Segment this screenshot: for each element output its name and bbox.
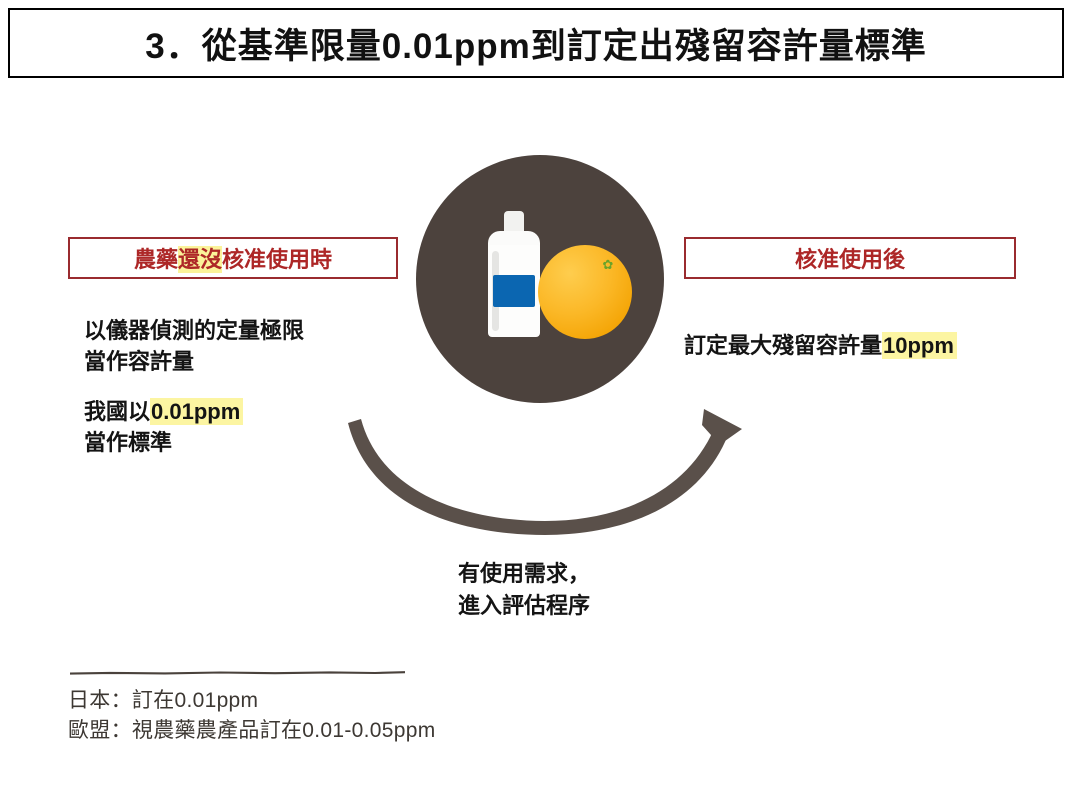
left-para1-line2: 當作容許量: [84, 346, 304, 377]
arrow-caption: 有使用需求， 進入評估程序: [458, 558, 590, 622]
bottle-label: [493, 275, 535, 307]
footnote-line-japan: 日本：訂在0.01ppm: [68, 686, 436, 716]
left-phase-label-box: 農藥還沒核准使用時: [68, 237, 398, 279]
arrow-caption-line2: 進入評估程序: [458, 590, 590, 622]
page-title: 3．從基準限量0.01ppm到訂定出殘留容許量標準: [145, 18, 926, 69]
left-para2-line2: 當作標準: [84, 427, 243, 458]
right-paragraph-mrl: 訂定最大殘留容許量10ppm: [684, 330, 957, 361]
footnote-divider-stroke: [70, 672, 405, 673]
left-label-highlight: 還沒: [178, 246, 222, 273]
left-phase-label-text: 農藥還沒核准使用時: [134, 242, 332, 274]
orange-star-icon: ✿: [602, 259, 614, 271]
left-para2-prefix: 我國以: [84, 399, 150, 424]
right-para-line1: 訂定最大殘留容許量10ppm: [684, 330, 957, 361]
arrow-curve: [348, 419, 728, 535]
right-phase-label-box: 核准使用後: [684, 237, 1016, 279]
right-para-highlight-value: 10ppm: [882, 332, 957, 359]
left-paragraph-detection-limit: 以儀器偵測的定量極限 當作容許量: [84, 315, 304, 377]
left-paragraph-national-standard: 我國以0.01ppm 當作標準: [84, 396, 243, 458]
right-phase-label-text: 核准使用後: [795, 242, 905, 274]
footnote-line-eu: 歐盟：視農藥農產品訂在0.01-0.05ppm: [68, 716, 436, 746]
curved-process-arrow: [330, 405, 760, 550]
left-para1-line1: 以儀器偵測的定量極限: [84, 315, 304, 346]
footnote-divider: [70, 671, 405, 675]
left-para2-highlight-value: 0.01ppm: [150, 398, 243, 425]
left-para2-line1: 我國以0.01ppm: [84, 396, 243, 427]
arrow-caption-line1: 有使用需求，: [458, 558, 590, 590]
right-para-prefix: 訂定最大殘留容許量: [684, 333, 882, 358]
central-illustration: ✿: [416, 155, 664, 403]
footnote-block: 日本：訂在0.01ppm 歐盟：視農藥農產品訂在0.01-0.05ppm: [68, 686, 436, 746]
left-label-suffix: 核准使用時: [222, 247, 332, 272]
orange-fruit-icon: ✿: [538, 245, 632, 339]
pesticide-bottle-icon: [488, 211, 540, 337]
left-label-prefix: 農藥: [134, 247, 178, 272]
slide-title-box: 3．從基準限量0.01ppm到訂定出殘留容許量標準: [8, 8, 1064, 78]
